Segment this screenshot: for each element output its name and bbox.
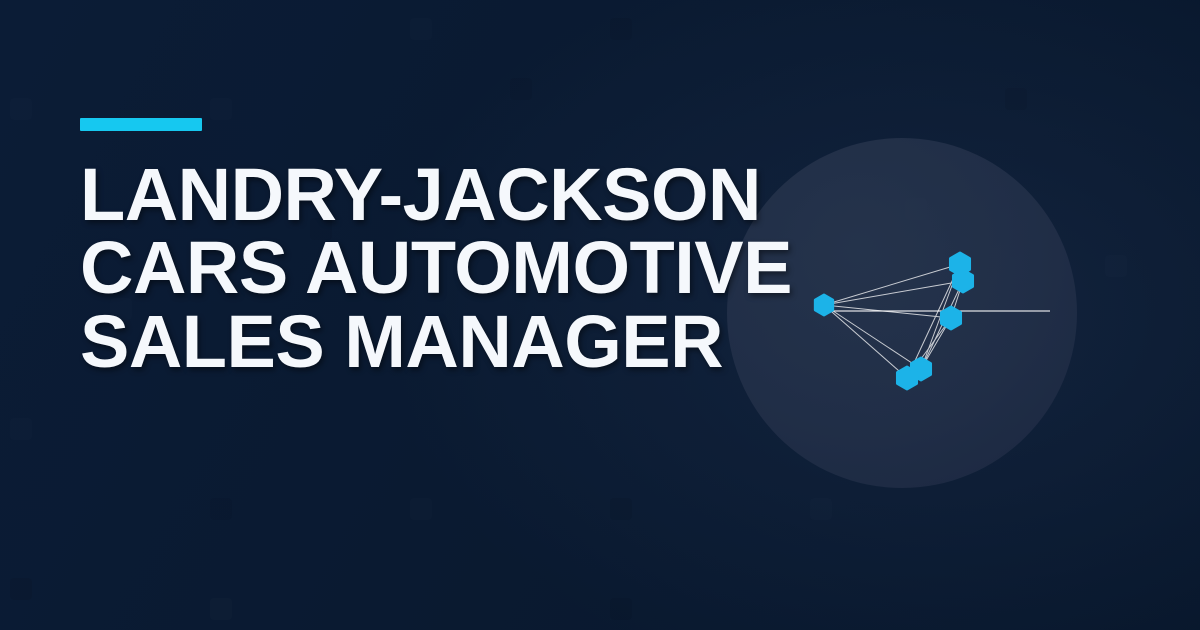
text-block: Landry-Jackson Cars Automotive Sales Man… bbox=[80, 118, 980, 378]
texture-square bbox=[610, 598, 632, 620]
texture-square bbox=[210, 598, 232, 620]
texture-square bbox=[1105, 255, 1127, 277]
texture-square bbox=[610, 498, 632, 520]
texture-square bbox=[410, 18, 432, 40]
texture-square bbox=[410, 498, 432, 520]
texture-square bbox=[510, 78, 532, 100]
texture-square bbox=[810, 498, 832, 520]
texture-square bbox=[1005, 88, 1027, 110]
texture-square bbox=[210, 498, 232, 520]
texture-square bbox=[210, 98, 232, 120]
accent-rule bbox=[80, 118, 202, 131]
social-share-banner: Landry-Jackson Cars Automotive Sales Man… bbox=[0, 0, 1200, 630]
texture-square bbox=[10, 578, 32, 600]
texture-square bbox=[10, 418, 32, 440]
page-title: Landry-Jackson Cars Automotive Sales Man… bbox=[80, 158, 940, 378]
texture-square bbox=[10, 98, 32, 120]
texture-square bbox=[610, 18, 632, 40]
